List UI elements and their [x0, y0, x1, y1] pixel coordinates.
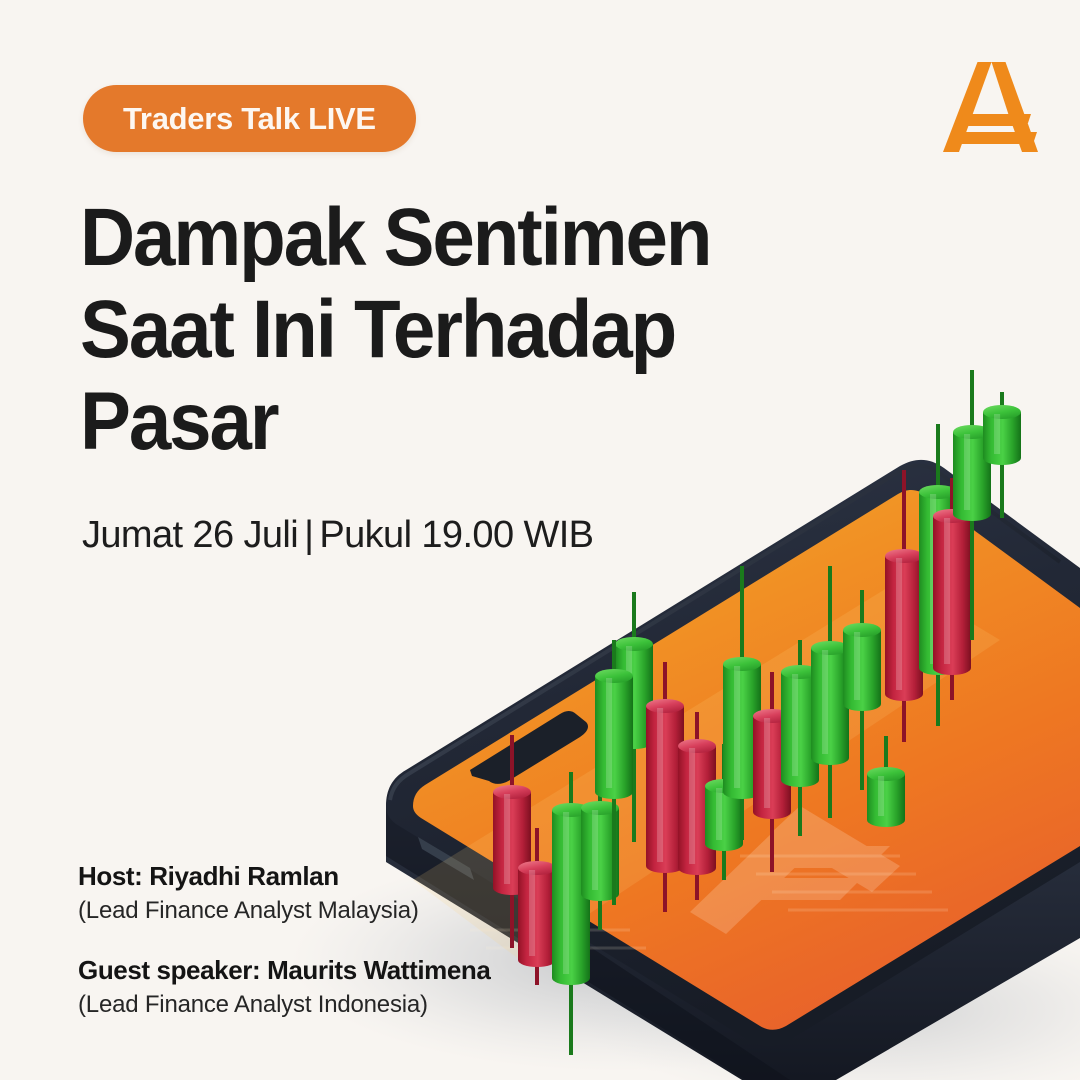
- page-title: Dampak Sentimen Saat Ini Terhadap Pasar: [80, 192, 840, 467]
- guest-name: Guest speaker: Maurits Wattimena: [78, 953, 490, 988]
- event-date: Jumat 26 Juli: [82, 514, 298, 556]
- live-badge-label: Traders Talk LIVE: [123, 103, 376, 134]
- guest-role: (Lead Finance Analyst Indonesia): [78, 988, 490, 1022]
- credit-host: Host: Riyadhi Ramlan (Lead Finance Analy…: [78, 859, 490, 928]
- headline-line-2: Saat Ini Terhadap: [80, 284, 787, 376]
- speaker-credits: Host: Riyadhi Ramlan (Lead Finance Analy…: [78, 859, 490, 1022]
- headline-line-3: Pasar: [80, 376, 787, 468]
- headline-line-1: Dampak Sentimen: [80, 192, 787, 284]
- host-role: (Lead Finance Analyst Malaysia): [78, 894, 490, 928]
- poster-canvas: Traders Talk LIVE Dampak Sentimen Saat I…: [0, 0, 1080, 1080]
- event-time: Pukul 19.00 WIB: [319, 514, 593, 556]
- event-datetime: Jumat 26 Juli|Pukul 19.00 WIB: [82, 514, 593, 557]
- host-name: Host: Riyadhi Ramlan: [78, 859, 490, 894]
- ascendex-a-logo-icon: [933, 58, 1038, 156]
- live-badge: Traders Talk LIVE: [83, 85, 416, 152]
- datetime-separator: |: [298, 514, 319, 557]
- credit-guest: Guest speaker: Maurits Wattimena (Lead F…: [78, 953, 490, 1022]
